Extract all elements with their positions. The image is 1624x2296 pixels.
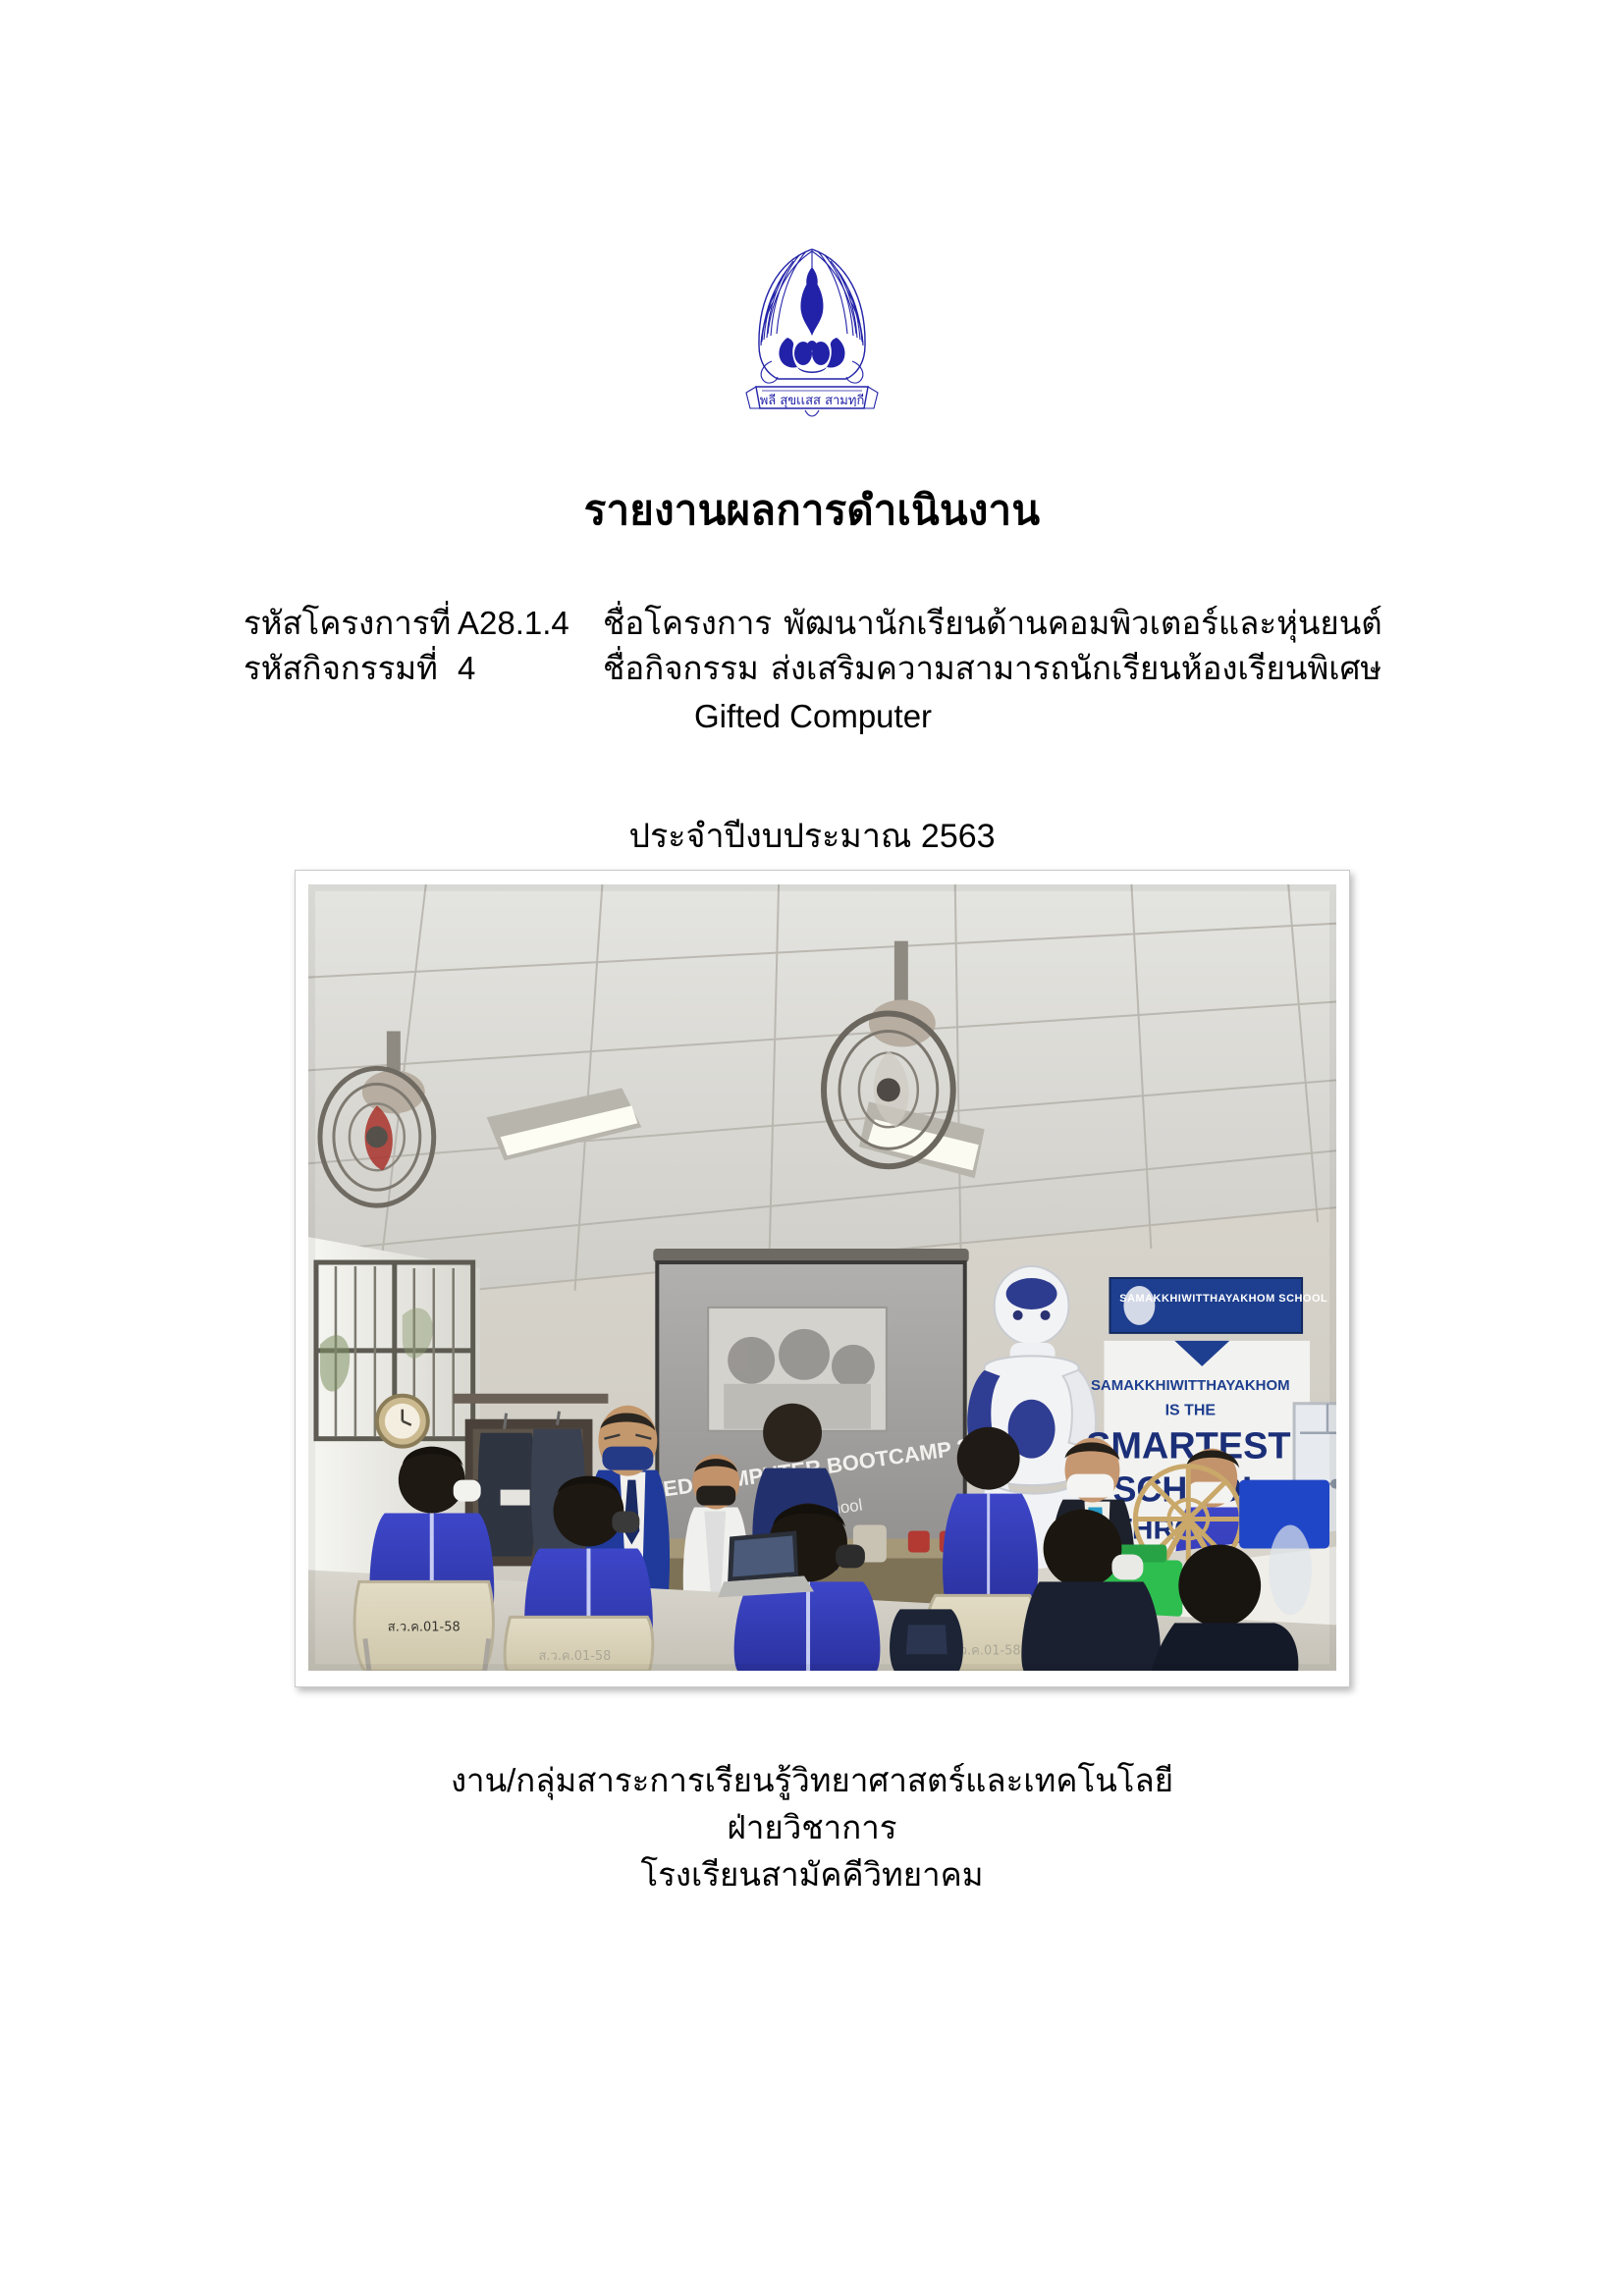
- poster-line-1: IS THE: [1165, 1403, 1217, 1419]
- footer-line-department: งาน/กลุ่มสาระการเรียนรู้วิทยาศาสตร์และเท…: [0, 1757, 1624, 1804]
- footer-line-division: ฝ่ายวิชาการ: [0, 1804, 1624, 1851]
- activity-code-value: 4: [458, 646, 603, 691]
- fiscal-year-line: ประจำปีงบประมาณ 2563: [0, 809, 1624, 862]
- project-name-label: ชื่อโครงการ: [603, 601, 772, 646]
- classroom-photo-illustration: GIFTED COMPUTER BOOTCAMP 2020 SWK-School: [308, 884, 1336, 1671]
- wall-clock: [377, 1396, 428, 1447]
- activity-name-value: ส่งเสริมความสามารถนักเรียนห้องเรียนพิเศษ: [759, 646, 1381, 691]
- face-mask: [836, 1544, 865, 1568]
- document-page: พลี สุขเเสส สามทฺกี รายงานผลการดำเนินงาน…: [0, 0, 1624, 2296]
- activity-photo-frame: GIFTED COMPUTER BOOTCAMP 2020 SWK-School: [295, 870, 1350, 1687]
- wall-banner-top-text: SAMAKKHIWITTHAYAKHOM SCHOOL: [1119, 1293, 1327, 1305]
- page-title: รายงานผลการดำเนินงาน: [0, 485, 1624, 537]
- chair-label-1: ส.ว.ค.01-58: [388, 1620, 460, 1634]
- project-code-value: A28.1.4: [458, 601, 603, 646]
- project-name-value: พัฒนานักเรียนด้านคอมพิวเตอร์และหุ่นยนต์: [772, 601, 1382, 646]
- activity-name-label: ชื่อกิจกรรม: [603, 646, 759, 691]
- activity-code-line: รหัสกิจกรรมที่ 4 ชื่อกิจกรรม ส่งเสริมควา…: [244, 646, 1382, 691]
- poster-line-0: SAMAKKHIWITTHAYAKHOM: [1091, 1377, 1290, 1394]
- school-crest-container: พลี สุขเเสส สามทฺกี: [0, 243, 1624, 425]
- face-mask: [696, 1486, 735, 1506]
- wall-banner-top: SAMAKKHIWITTHAYAKHOM SCHOOL: [1110, 1278, 1327, 1333]
- activity-name-value-line2: Gifted Computer: [244, 690, 1382, 739]
- project-info-block: รหัสโครงการที่ A28.1.4 ชื่อโครงการ พัฒนา…: [244, 601, 1382, 739]
- footer-organisation-block: งาน/กลุ่มสาระการเรียนรู้วิทยาศาสตร์และเท…: [0, 1757, 1624, 1898]
- chair-label-2: ส.ว.ค.01-58: [539, 1649, 612, 1664]
- face-mask: [612, 1512, 639, 1533]
- school-crest-icon: พลี สุขเเสส สามทฺกี: [729, 243, 895, 425]
- footer-line-school: โรงเรียนสามัคคีวิทยาคม: [0, 1851, 1624, 1898]
- face-mask: [602, 1447, 653, 1470]
- activity-photo: GIFTED COMPUTER BOOTCAMP 2020 SWK-School: [308, 884, 1336, 1671]
- activity-code-label: รหัสกิจกรรมที่: [244, 646, 458, 691]
- face-mask: [1067, 1474, 1114, 1498]
- crest-motto-text: พลี สุขเเสส สามทฺกี: [760, 393, 865, 408]
- project-code-line: รหัสโครงการที่ A28.1.4 ชื่อโครงการ พัฒนา…: [244, 601, 1382, 646]
- project-code-label: รหัสโครงการที่: [244, 601, 458, 646]
- face-mask: [454, 1480, 481, 1502]
- backpack: [890, 1609, 963, 1671]
- face-mask: [1111, 1554, 1143, 1579]
